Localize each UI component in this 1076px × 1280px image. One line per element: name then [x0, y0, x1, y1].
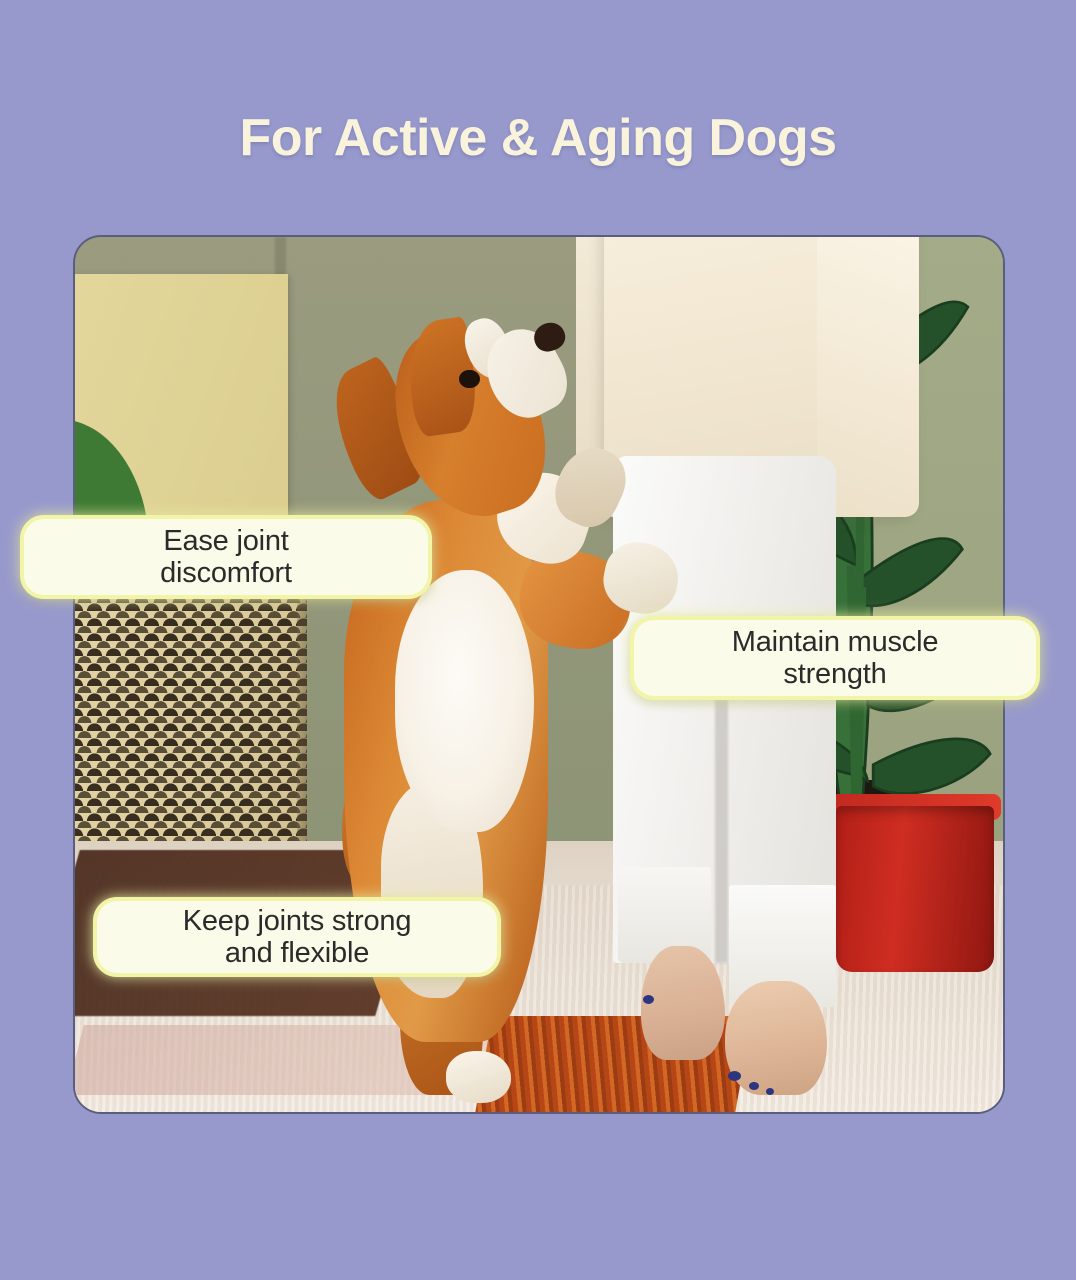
dog-hind-paw: [446, 1051, 511, 1104]
callout-line-2: and flexible: [225, 937, 369, 969]
callout-text: Ease joint discomfort: [160, 525, 292, 590]
callout-maintain-muscle-strength[interactable]: Maintain muscle strength: [630, 616, 1040, 700]
dog-eye: [459, 370, 479, 388]
dog-chest: [395, 570, 534, 833]
page-title: For Active & Aging Dogs: [0, 110, 1076, 167]
callout-line-1: Ease joint: [163, 525, 288, 557]
callout-line-2: strength: [783, 658, 886, 690]
callout-line-2: discomfort: [160, 557, 292, 589]
callout-line-1: Maintain muscle: [732, 626, 939, 658]
bare-foot-left: [641, 946, 725, 1060]
callout-text: Maintain muscle strength: [732, 626, 939, 691]
toenail-polish: [749, 1082, 759, 1090]
toenail-polish: [766, 1088, 774, 1095]
toenail-polish: [643, 995, 654, 1004]
callout-line-1: Keep joints strong: [183, 905, 412, 937]
callout-text: Keep joints strong and flexible: [183, 905, 412, 970]
callout-keep-joints-strong-and-flexible[interactable]: Keep joints strong and flexible: [93, 897, 501, 977]
callout-ease-joint-discomfort[interactable]: Ease joint discomfort: [20, 515, 432, 599]
plant-pot: [836, 806, 994, 972]
